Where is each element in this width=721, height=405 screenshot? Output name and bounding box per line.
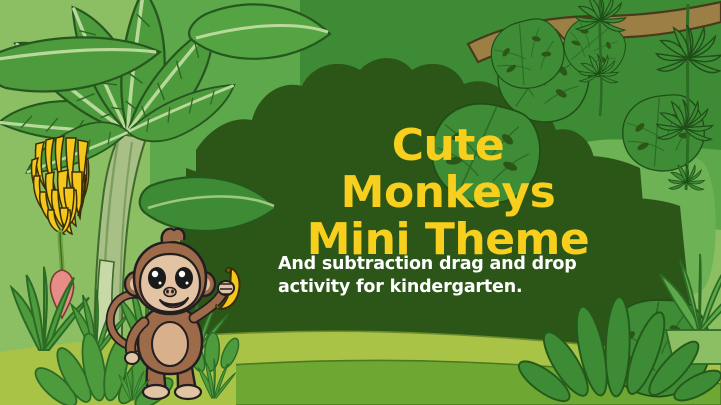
presentation-slide: Cute Monkeys Mini Theme And subtraction … xyxy=(0,0,721,405)
jungle-illustration xyxy=(0,0,721,405)
